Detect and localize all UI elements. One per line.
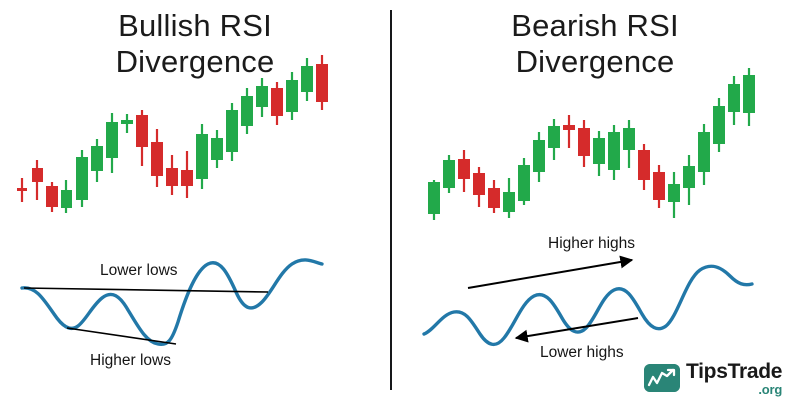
candle	[46, 182, 58, 212]
candle	[533, 132, 545, 182]
bullish-chart-area: Lower lows Higher lows	[0, 0, 390, 400]
annotation-label-higher-lows: Higher lows	[90, 352, 171, 369]
candle	[61, 180, 72, 213]
candle	[563, 115, 575, 148]
annotation-label-lower-highs: Lower highs	[540, 344, 624, 361]
candle	[151, 129, 163, 187]
candle	[698, 124, 710, 185]
logo-wordmark: TipsTrade	[686, 361, 782, 382]
candle	[301, 58, 313, 101]
candle	[593, 131, 605, 176]
candle	[196, 124, 208, 189]
candle	[181, 151, 193, 198]
candle	[623, 120, 635, 168]
bullish-candlestick-series	[17, 55, 328, 213]
candle	[106, 113, 118, 173]
candle	[226, 103, 238, 161]
candle	[578, 120, 590, 167]
candle	[743, 68, 755, 126]
lower-lows-trendline	[24, 288, 268, 292]
rsi-divergence-infographic: Bullish RSI Divergence	[0, 0, 800, 400]
candle	[653, 165, 665, 208]
annotation-label-lower-lows: Lower lows	[100, 262, 178, 279]
annotation-label-higher-highs: Higher highs	[548, 235, 635, 252]
candle	[503, 178, 515, 218]
candle	[608, 125, 620, 180]
lower-highs-arrow	[516, 318, 638, 338]
candle	[713, 98, 725, 152]
bearish-candlestick-series	[428, 68, 755, 220]
uptrend-chart-icon	[644, 364, 680, 392]
panel-bearish: Bearish RSI Divergence	[400, 0, 790, 400]
panel-bullish: Bullish RSI Divergence	[0, 0, 390, 400]
candle	[728, 76, 740, 125]
candle	[286, 72, 298, 120]
candle	[76, 150, 88, 207]
candle	[488, 180, 500, 213]
candle	[443, 155, 455, 193]
candle	[32, 160, 43, 200]
candle	[668, 172, 680, 218]
candle	[683, 155, 695, 205]
candle	[518, 158, 530, 205]
panel-divider	[390, 10, 392, 390]
candle	[548, 119, 560, 160]
bearish-rsi-line	[424, 266, 752, 344]
candle	[166, 155, 178, 195]
candle	[256, 78, 268, 117]
candle	[136, 110, 148, 166]
candle	[271, 82, 283, 125]
candle	[473, 167, 485, 207]
logo-tld: .org	[686, 383, 782, 396]
logo-text: TipsTrade .org	[686, 361, 782, 396]
candle	[428, 180, 440, 220]
candle	[638, 144, 650, 190]
higher-lows-trendline	[67, 328, 176, 344]
candle	[121, 114, 133, 133]
candle	[241, 88, 253, 134]
candle	[316, 55, 328, 110]
bearish-chart-area: Higher highs Lower highs	[400, 0, 790, 400]
candle	[17, 178, 27, 202]
candle	[211, 130, 223, 168]
brand-logo[interactable]: TipsTrade .org	[644, 358, 794, 398]
higher-highs-arrow	[468, 260, 632, 288]
candle	[91, 139, 103, 182]
candle	[458, 150, 470, 192]
